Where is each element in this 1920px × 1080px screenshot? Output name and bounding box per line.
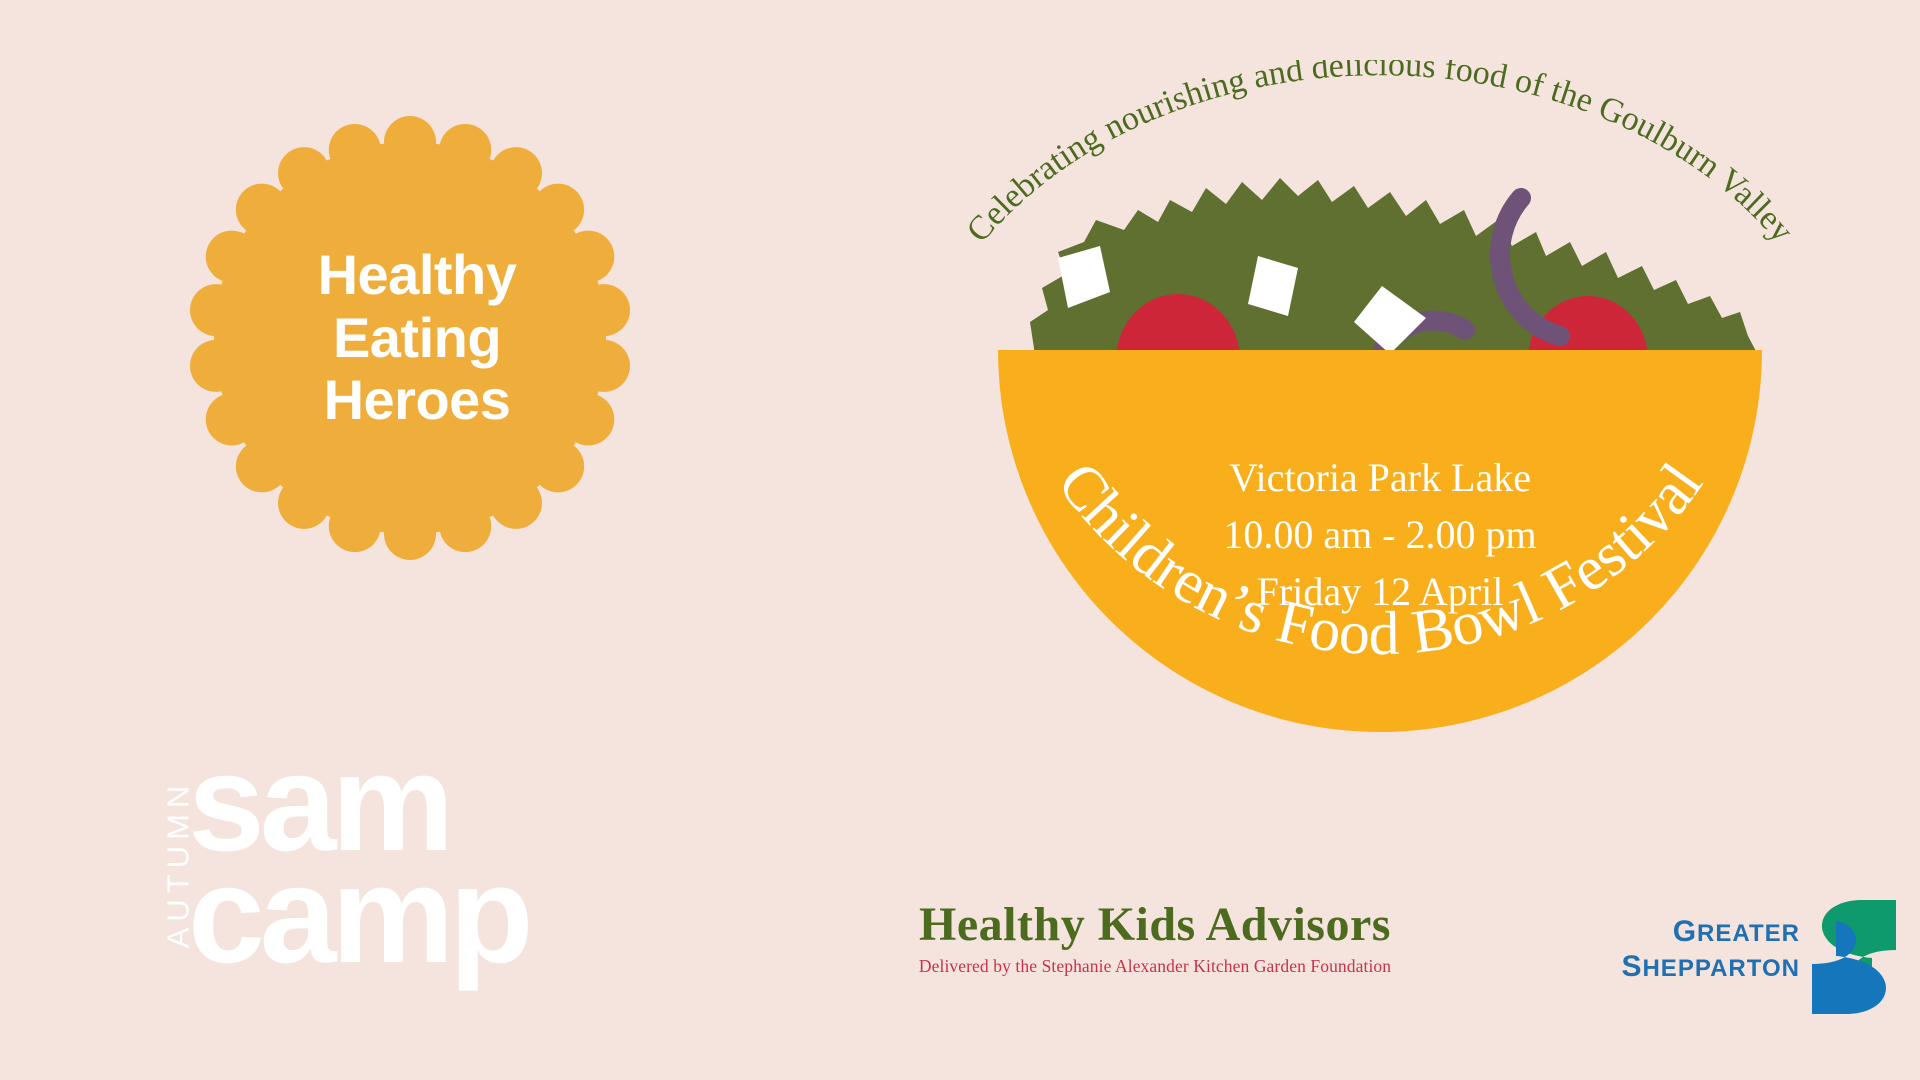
poster-canvas: Healthy Eating Heroes AUTUMN sam camp — [0, 0, 1920, 1080]
badge-line-2: Eating — [333, 307, 501, 370]
gs-line-2: SHEPPARTON — [1500, 949, 1800, 984]
badge-line-1: Healthy — [318, 244, 517, 307]
greater-shepparton-logo: GREATER SHEPPARTON — [1500, 898, 1900, 1028]
badge-text-block: Healthy Eating Heroes — [130, 88, 690, 588]
gs-line-1: GREATER — [1500, 914, 1800, 949]
event-date: Friday 12 April — [870, 564, 1890, 621]
wordmark-lines: sam camp — [188, 748, 529, 972]
hka-subtitle: Delivered by the Stephanie Alexander Kit… — [895, 956, 1415, 977]
badge-line-3: Heroes — [324, 369, 511, 432]
healthy-eating-heroes-badge: Healthy Eating Heroes — [130, 88, 690, 588]
sam-camp-wordmark: AUTUMN sam camp — [120, 762, 640, 1022]
food-bowl-illustration: Celebrating nourishing and delicious foo… — [870, 60, 1890, 860]
hka-title: Healthy Kids Advisors — [895, 900, 1415, 950]
shepparton-swoosh-icon — [1808, 898, 1900, 1016]
event-venue: Victoria Park Lake — [870, 450, 1890, 507]
event-details: Victoria Park Lake 10.00 am - 2.00 pm Fr… — [870, 450, 1890, 620]
healthy-kids-advisors-logo: Healthy Kids Advisors Delivered by the S… — [895, 900, 1415, 977]
wordmark-line-camp: camp — [188, 860, 529, 972]
gs-wordmark: GREATER SHEPPARTON — [1500, 914, 1800, 985]
event-time: 10.00 am - 2.00 pm — [870, 507, 1890, 564]
